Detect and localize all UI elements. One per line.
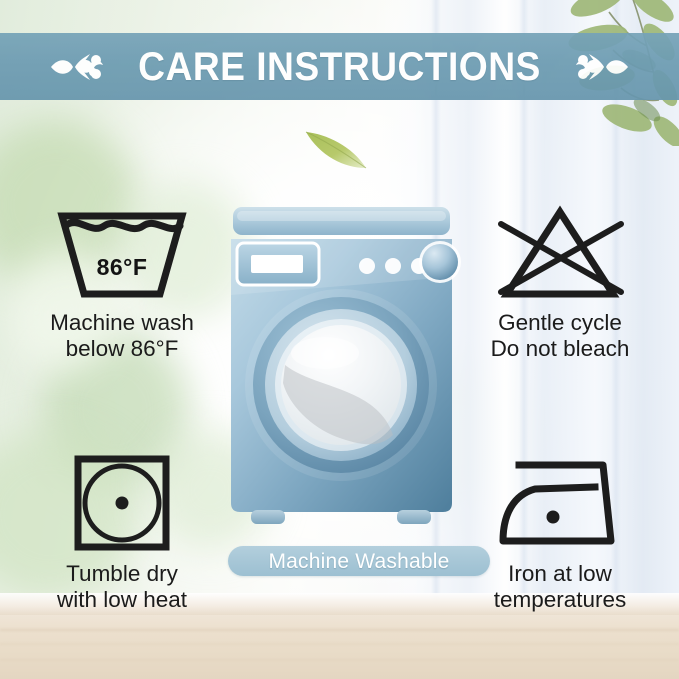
care-instructions-infographic: CARE INSTRUCTIONS 86°F Machi <box>0 0 679 679</box>
fleur-de-lis-icon <box>49 47 105 87</box>
caption-line: Do not bleach <box>446 336 674 362</box>
wash-temperature-value: 86°F <box>52 254 192 281</box>
machine-washable-badge: Machine Washable <box>228 546 490 576</box>
wooden-table-surface <box>0 615 679 679</box>
fleur-de-lis-icon <box>574 47 630 87</box>
care-symbol-caption: Gentle cycle Do not bleach <box>446 310 674 362</box>
page-title: CARE INSTRUCTIONS <box>138 47 541 87</box>
bleach-glyph-container <box>446 192 674 302</box>
wash-tub-glyph-container: 86°F <box>8 192 236 302</box>
caption-line: below 86°F <box>8 336 236 362</box>
control-dot <box>385 258 401 274</box>
caption-line: Gentle cycle <box>446 310 674 336</box>
caption-line: temperatures <box>446 587 674 613</box>
triangle-crossed-bleach-icon <box>485 202 635 302</box>
care-symbol-do-not-bleach: Gentle cycle Do not bleach <box>446 192 674 362</box>
care-symbol-machine-wash: 86°F Machine wash below 86°F <box>8 192 236 362</box>
care-symbol-iron-low: Iron at low temperatures <box>446 443 674 613</box>
tumble-dry-glyph-container <box>8 443 236 553</box>
iron-glyph-container <box>446 443 674 553</box>
caption-line: Tumble dry <box>8 561 236 587</box>
care-symbol-caption: Machine wash below 86°F <box>8 310 236 362</box>
control-dot <box>359 258 375 274</box>
caption-line: Machine wash <box>8 310 236 336</box>
caption-line: with low heat <box>8 587 236 613</box>
control-dial-knob-icon[interactable] <box>416 238 464 286</box>
header-banner: CARE INSTRUCTIONS <box>0 33 679 100</box>
badge-label: Machine Washable <box>268 551 449 572</box>
care-symbol-caption: Tumble dry with low heat <box>8 561 236 613</box>
care-symbol-tumble-dry: Tumble dry with low heat <box>8 443 236 613</box>
iron-one-dot-icon <box>495 453 625 553</box>
wash-tub-icon <box>52 202 192 302</box>
floating-leaf-icon <box>300 118 372 176</box>
tumble-dry-one-dot-icon <box>72 453 172 553</box>
